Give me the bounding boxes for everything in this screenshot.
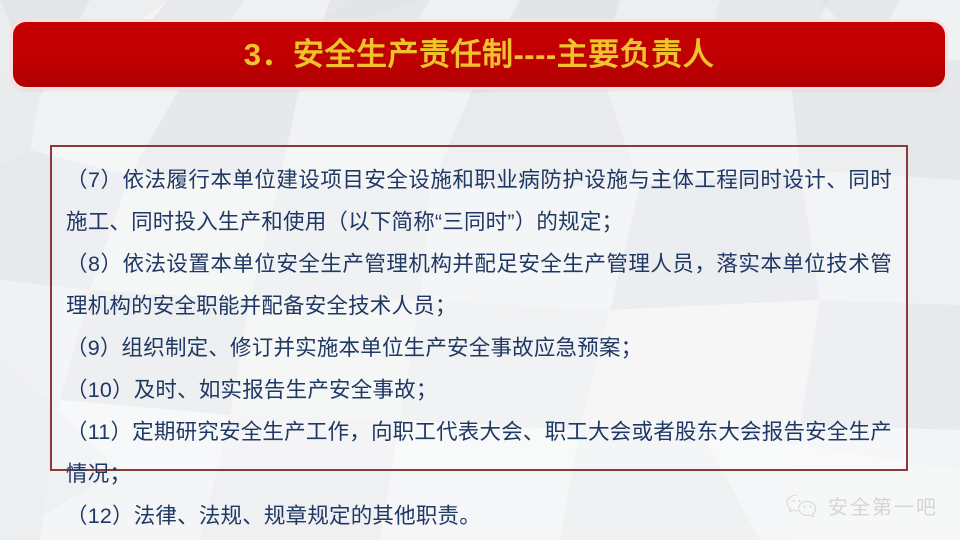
- wechat-icon: [785, 493, 819, 519]
- watermark: 安全第一吧: [785, 491, 938, 520]
- content-panel: （7）依法履行本单位建设项目安全设施和职业病防护设施与主体工程同时设计、同时施工…: [50, 145, 908, 471]
- slide-canvas: 3．安全生产责任制----主要负责人 （7）依法履行本单位建设项目安全设施和职业…: [0, 0, 960, 540]
- page-title: 3．安全生产责任制----主要负责人: [244, 39, 715, 70]
- watermark-label: 安全第一吧: [828, 491, 938, 520]
- content-body-text: （7）依法履行本单位建设项目安全设施和职业病防护设施与主体工程同时设计、同时施工…: [66, 159, 892, 537]
- slide-title-bar: 3．安全生产责任制----主要负责人: [13, 22, 945, 87]
